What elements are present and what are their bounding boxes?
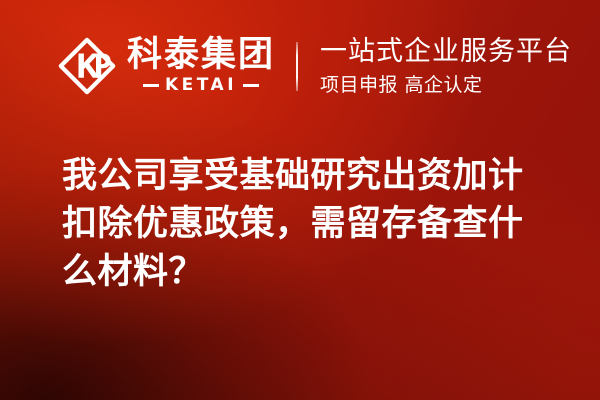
brand-name-cn: 科泰集团 <box>127 38 275 73</box>
wordmark-rule-left <box>143 84 159 87</box>
brand-name-en: KETAI <box>159 77 243 94</box>
brand-wordmark: 科泰集团 KETAI <box>127 38 275 94</box>
tagline-primary: 一站式企业服务平台 <box>320 36 572 67</box>
ketai-logo-icon <box>57 36 117 96</box>
brand-name-en-row: KETAI <box>127 77 275 94</box>
headline-text: 我公司享受基础研究出资加计扣除优惠政策，需留存备查什么材料？ <box>62 152 554 296</box>
wordmark-rule-right <box>243 84 259 87</box>
brand-header: 科泰集团 KETAI 一站式企业服务平台 项目申报 高企认定 <box>57 36 572 97</box>
tagline-block: 一站式企业服务平台 项目申报 高企认定 <box>320 36 572 97</box>
tagline-secondary: 项目申报 高企认定 <box>320 74 572 97</box>
header-divider <box>296 42 298 91</box>
promo-banner: 科泰集团 KETAI 一站式企业服务平台 项目申报 高企认定 我公司享受基础研究… <box>0 0 600 400</box>
